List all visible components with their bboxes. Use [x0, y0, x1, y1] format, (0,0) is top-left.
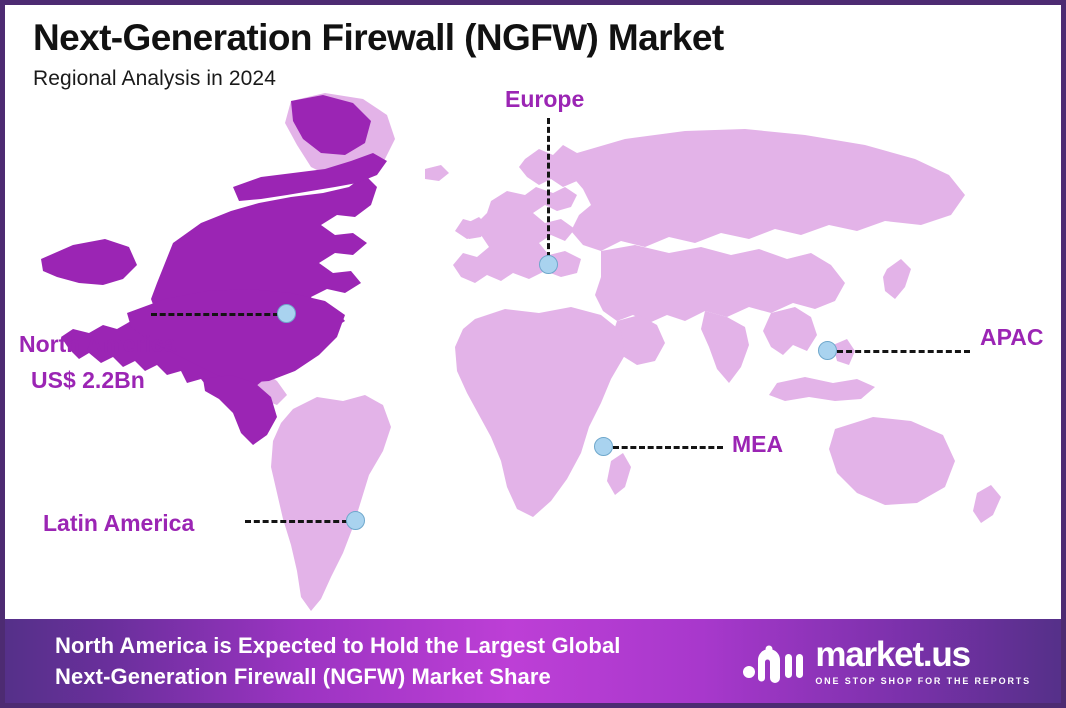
region-new-zealand-shape [973, 485, 1001, 523]
header: Next-Generation Firewall (NGFW) Market R… [33, 19, 724, 91]
map-marker-europe[interactable] [539, 255, 558, 274]
logo-tagline: ONE STOP SHOP FOR THE REPORTS [815, 676, 1031, 686]
region-south-america-shape [271, 395, 391, 611]
market-us-logo[interactable]: market.us ONE STOP SHOP FOR THE REPORTS [742, 637, 1031, 686]
region-central-asia-shape [595, 245, 845, 323]
leader-line-apac [837, 350, 970, 353]
map-marker-mea[interactable] [594, 437, 613, 456]
market-us-logo-icon [742, 638, 804, 684]
region-label-mea: MEA [732, 430, 783, 459]
market-us-logo-text: market.us ONE STOP SHOP FOR THE REPORTS [815, 637, 1031, 686]
logo-wordmark: market.us [815, 637, 1031, 672]
leader-line-europe [547, 118, 550, 258]
region-india-shape [701, 311, 749, 383]
leader-line-mea [613, 446, 723, 449]
region-value-north-america: US$ 2.2Bn [31, 366, 177, 395]
leader-line-north-america [151, 313, 279, 316]
region-japan-shape [883, 259, 911, 299]
map-marker-latin-america[interactable] [346, 511, 365, 530]
footer-headline-line2: Next-Generation Firewall (NGFW) Market S… [55, 661, 621, 692]
region-africa-shape [455, 307, 625, 517]
map-marker-apac[interactable] [818, 341, 837, 360]
region-madagascar-shape [607, 453, 631, 495]
region-southeast-asia-shape [763, 307, 817, 355]
footer-headline-line1: North America is Expected to Hold the La… [55, 630, 621, 661]
page-subtitle: Regional Analysis in 2024 [33, 67, 724, 91]
footer-headline: North America is Expected to Hold the La… [55, 630, 621, 692]
region-indonesia-shape [769, 377, 875, 401]
region-label-apac: APAC [980, 323, 1043, 352]
region-iceland-shape [425, 165, 449, 181]
page-title: Next-Generation Firewall (NGFW) Market [33, 19, 724, 58]
region-alaska-shape [41, 239, 137, 285]
region-label-north-america-name: North America [19, 331, 177, 357]
map-marker-north-america[interactable] [277, 304, 296, 323]
region-label-latin-america: Latin America [43, 509, 194, 538]
footer-banner: North America is Expected to Hold the La… [5, 619, 1061, 703]
region-label-north-america: North America US$ 2.2Bn [19, 330, 177, 396]
region-north-asia-shape [571, 129, 965, 251]
leader-line-latin-america [245, 520, 348, 523]
region-australia-shape [829, 417, 955, 505]
infographic-frame: Next-Generation Firewall (NGFW) Market R… [0, 0, 1066, 708]
